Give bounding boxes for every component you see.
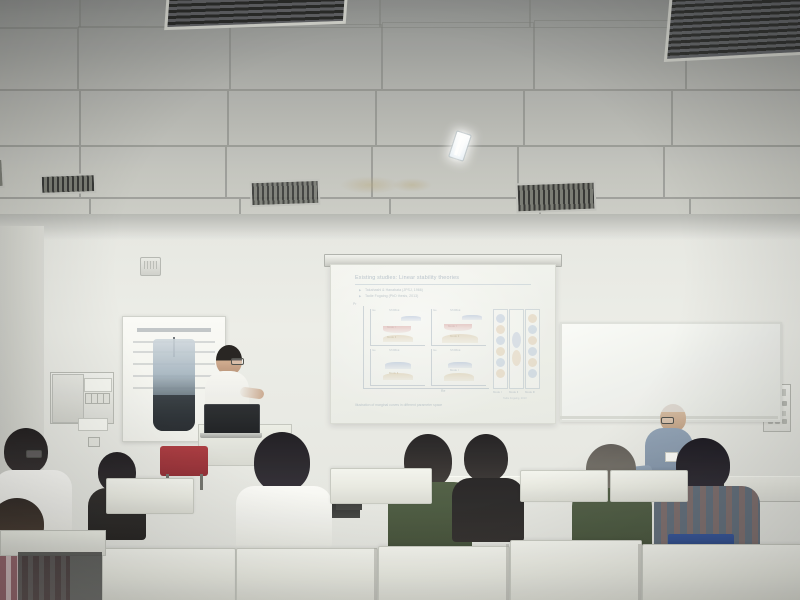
attendee-center-right-body [452,478,524,542]
seat-row-front-5[interactable] [642,544,800,600]
electrical-control-panel[interactable] [50,372,114,424]
presenter-glasses-icon [231,358,244,365]
attendee-center-left-head [254,432,310,492]
attendee-center-left-body [236,486,332,548]
slide-mode-panel-3 [525,309,540,389]
seat-row-front-1[interactable] [102,548,236,600]
wall-socket[interactable] [88,437,100,447]
slide-mode-panel-2 [509,309,524,389]
attendee-front-left-glasses-icon [26,450,42,458]
attendee-center-right-head [464,434,508,482]
slide-y-axis-label: Pr [353,302,356,306]
seat-row-front-4[interactable] [510,540,642,600]
seat-row-middle-4[interactable] [610,470,688,502]
lecture-room-photo: Existing studies: Linear stability theor… [0,0,800,600]
slide-panel-caption-1: Mode I [493,390,502,394]
seated-man-glasses-icon [661,417,674,424]
seat-divider [374,548,377,600]
slide-caption: Illustration of marginal curves in diffe… [355,403,442,407]
slide-mode-panel-1 [493,309,508,389]
slide-plot-q1: Ge STABLE Mode I Mode II [370,309,425,346]
slide-plot-q3: Ge STABLE Mode II [370,349,425,386]
seat-divider-2 [506,544,509,600]
slide-panel-caption-3: Mode III [525,390,535,394]
electrical-subpanel[interactable] [78,418,108,431]
red-chair[interactable] [160,446,208,476]
seat-row-middle-2[interactable] [330,468,432,504]
slide-bullet-1: Takahashi & Hanabata (JPSJ, 1966) [365,288,423,292]
poster-heading [137,328,211,332]
projection-screen: Existing studies: Linear stability theor… [330,264,556,424]
presenter-laptop-base[interactable] [200,433,262,438]
slide-title: Existing studies: Linear stability theor… [355,275,459,281]
ceiling-water-stain-2 [392,178,432,192]
air-vent-grille-top-right [664,0,800,62]
slide-panel-caption-2: Mode II [509,390,518,394]
presentation-slide: Existing studies: Linear stability theor… [353,273,543,413]
desk-foreground-left-shadow [18,552,102,600]
ceiling-speaker [140,257,161,276]
ceiling-water-stain [340,176,400,194]
slide-x-axis-label: Re [441,389,445,393]
seat-row-front-3[interactable] [378,546,510,600]
slide-plot-q4: Ge STABLE Mode I [431,349,486,386]
slide-credit: Tadie Fogaing, 2013 [503,397,527,400]
air-vent-slot-left-2 [40,173,97,195]
wall-ceiling-shadow [0,214,800,240]
presenter-laptop-screen[interactable] [204,404,260,436]
slide-bullet-2: Tadie Fogaing (PhD thesis, 2013) [365,294,418,298]
seat-row-front-2[interactable] [236,548,378,600]
slide-plot-q2: Ge STABLE Mode I Mode II [431,309,486,346]
seat-row-middle-1[interactable] [106,478,194,514]
poster-ship-reflection [153,395,195,431]
seat-divider-3 [638,544,641,600]
red-chair-leg-2 [200,474,203,490]
air-vent-grille-mid-center [516,181,597,214]
seat-row-middle-3[interactable] [520,470,608,502]
air-vent-grille-center [250,179,321,207]
slide-title-rule [355,284,531,285]
